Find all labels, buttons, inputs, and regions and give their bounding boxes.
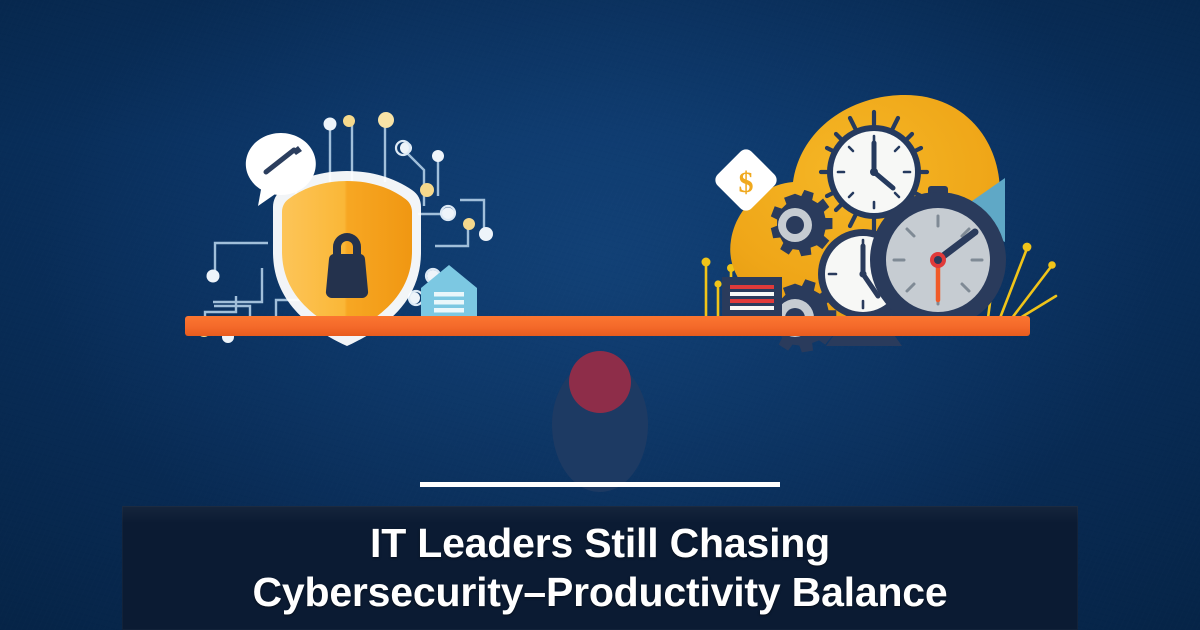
document-card-icon [722,277,782,322]
svg-text:$: $ [739,166,754,199]
pivot-circle [569,351,631,413]
title-line-2: Cybersecurity–Productivity Balance [140,568,1060,617]
balance-beam [185,316,1030,336]
poster-canvas: $ [0,0,1200,630]
title-banner: IT Leaders Still Chasing Cybersecurity–P… [122,506,1078,630]
page-title: IT Leaders Still Chasing Cybersecurity–P… [122,519,1078,617]
title-line-1: IT Leaders Still Chasing [140,519,1060,568]
title-divider [420,482,780,487]
